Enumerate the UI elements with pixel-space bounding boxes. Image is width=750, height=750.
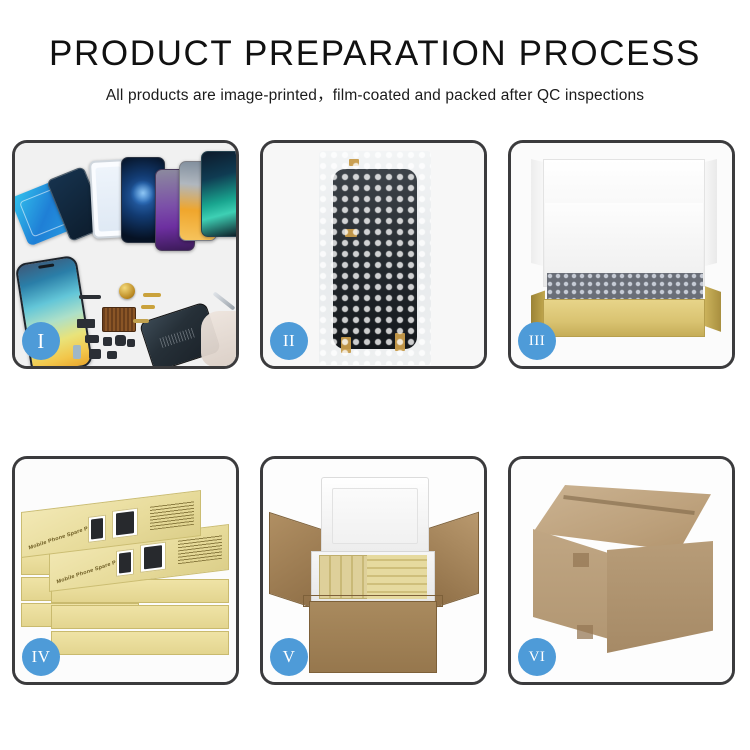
page-header: PRODUCT PREPARATION PROCESS All products… bbox=[0, 0, 750, 105]
box-front-panel bbox=[543, 299, 705, 337]
foam-sheet-image bbox=[545, 203, 703, 275]
box-label-text-lines-1 bbox=[150, 501, 194, 530]
packed-boxes-image-2 bbox=[367, 555, 427, 599]
box-label-window-1a bbox=[88, 515, 106, 543]
carton-tape-lower bbox=[577, 625, 593, 639]
process-steps-grid: I II bbox=[12, 140, 738, 685]
step-card-2: II bbox=[260, 140, 487, 369]
stacked-box-edge-4 bbox=[51, 631, 229, 655]
step-1-badge: I bbox=[22, 322, 60, 360]
part-chip-1 bbox=[77, 319, 95, 328]
box-label-text-lines-2 bbox=[178, 535, 222, 564]
box-side-right bbox=[705, 286, 721, 332]
step-card-3: III bbox=[508, 140, 735, 369]
step-2-badge: II bbox=[270, 322, 308, 360]
part-connector-1 bbox=[73, 345, 81, 359]
speaker-mesh-part-image bbox=[119, 283, 135, 299]
step-3-badge: III bbox=[518, 322, 556, 360]
part-chip-4 bbox=[127, 339, 135, 347]
step-5-badge: V bbox=[270, 638, 308, 676]
box-label-window-2a bbox=[116, 549, 134, 577]
carton-tape-upper bbox=[573, 553, 589, 567]
logic-board-part-image bbox=[102, 307, 136, 332]
box-label-window-2b bbox=[140, 542, 166, 573]
page-title: PRODUCT PREPARATION PROCESS bbox=[0, 36, 750, 71]
step-card-6: VI bbox=[508, 456, 735, 685]
flex-cable-1 bbox=[143, 293, 161, 297]
foam-box-lid-image bbox=[321, 477, 429, 555]
flex-cable-3 bbox=[133, 319, 149, 323]
hand-image bbox=[201, 311, 236, 366]
bubble-wrap-fill-image bbox=[547, 273, 703, 301]
flex-cable-2 bbox=[141, 305, 155, 309]
product-preparation-page: PRODUCT PREPARATION PROCESS All products… bbox=[0, 0, 750, 750]
part-chip-5 bbox=[89, 349, 101, 359]
part-strip-1 bbox=[79, 295, 101, 299]
step-4-badge: IV bbox=[22, 638, 60, 676]
part-camera-image bbox=[115, 335, 126, 346]
part-chip-6 bbox=[107, 351, 117, 359]
stacked-box-edge-5 bbox=[51, 605, 229, 629]
step-6-badge: VI bbox=[518, 638, 556, 676]
bubble-texture-overlay bbox=[319, 151, 431, 365]
repair-tool-image bbox=[213, 291, 236, 310]
carton-left-panel bbox=[533, 529, 609, 639]
carton-right-panel bbox=[607, 541, 713, 653]
step-card-5: V bbox=[260, 456, 487, 685]
step-card-4: Mobile Phone Spare Parts Mobile Phone Sp… bbox=[12, 456, 239, 685]
phone-teal-screen-image bbox=[201, 151, 236, 237]
box-label-window-1b bbox=[112, 508, 138, 539]
part-chip-3 bbox=[103, 337, 112, 346]
carton-front-panel bbox=[309, 601, 437, 673]
bubble-wrap-bag-image bbox=[319, 151, 431, 365]
part-chip-2 bbox=[85, 335, 99, 343]
step-card-1: I bbox=[12, 140, 239, 369]
page-subtitle: All products are image-printed，film-coat… bbox=[0, 83, 750, 105]
